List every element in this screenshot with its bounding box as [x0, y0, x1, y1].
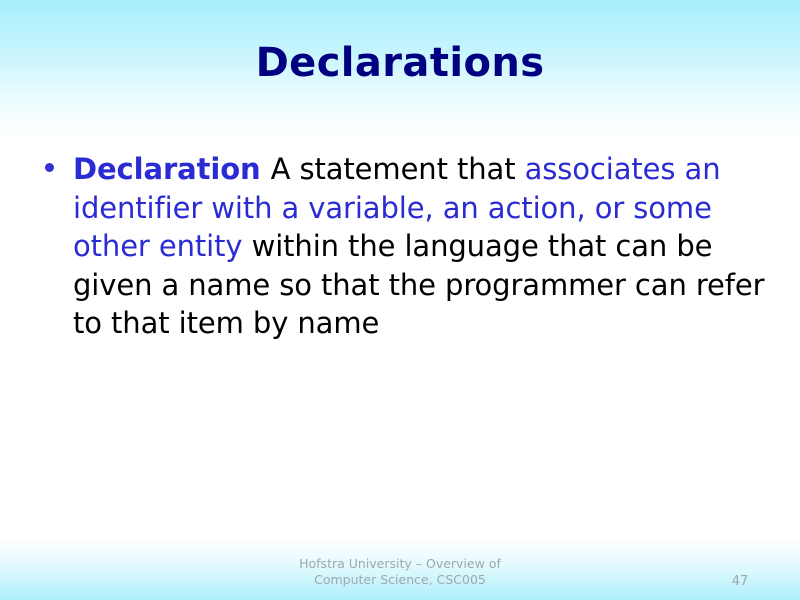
- slide-body: Declaration A statement that associates …: [40, 150, 770, 343]
- footer-line-2: Computer Science, CSC005: [0, 572, 800, 588]
- bullet-item-text: Declaration A statement that associates …: [73, 150, 770, 343]
- term-declaration: Declaration: [73, 152, 271, 186]
- definition-lead: A statement that: [271, 152, 525, 186]
- slide-page-number: 47: [700, 574, 780, 590]
- slide-title: Declarations: [0, 40, 800, 86]
- list-item: Declaration A statement that associates …: [40, 150, 770, 343]
- footer-line-1: Hofstra University – Overview of: [0, 556, 800, 572]
- bullet-dot-icon: [45, 163, 54, 172]
- slide-canvas: Declarations Declaration A statement tha…: [0, 0, 800, 600]
- slide-footer: Hofstra University – Overview of Compute…: [0, 556, 800, 588]
